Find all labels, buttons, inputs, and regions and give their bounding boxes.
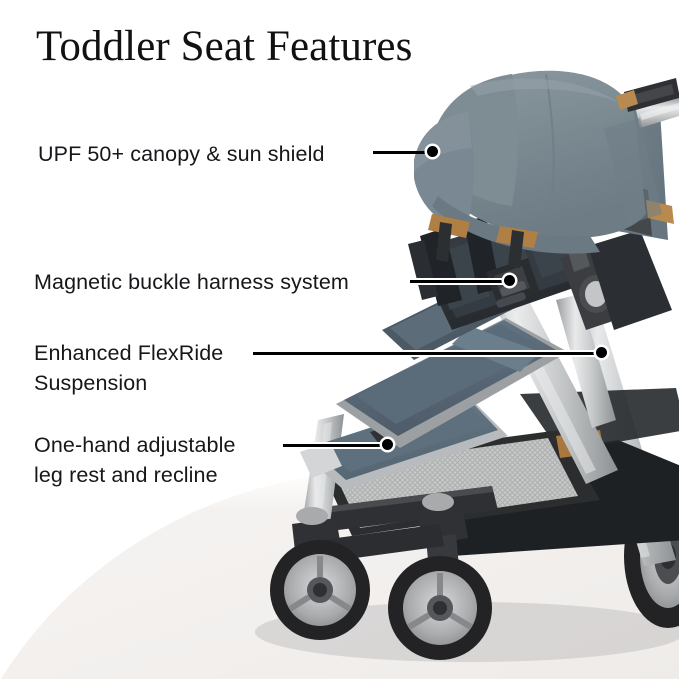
- callout-dot-legrest: [382, 439, 393, 450]
- front-wheel-right: [388, 556, 492, 660]
- leader-line-harness: [410, 280, 510, 283]
- front-wheel-left: [270, 540, 370, 640]
- leader-line-legrest: [283, 444, 388, 447]
- feature-label-suspension: Enhanced FlexRide Suspension: [34, 338, 223, 398]
- callout-dot-suspension: [596, 347, 607, 358]
- callout-dot-canopy: [427, 146, 438, 157]
- feature-label-harness: Magnetic buckle harness system: [34, 267, 349, 297]
- feature-label-canopy: UPF 50+ canopy & sun shield: [38, 139, 325, 169]
- page-title: Toddler Seat Features: [36, 22, 412, 71]
- leader-line-suspension: [253, 352, 603, 355]
- infographic-canvas: Toddler Seat Features UPF 50+ canopy & s…: [0, 0, 679, 679]
- callout-dot-harness: [504, 275, 515, 286]
- feature-label-legrest: One-hand adjustable leg rest and recline: [34, 430, 236, 490]
- leader-line-canopy: [373, 151, 431, 154]
